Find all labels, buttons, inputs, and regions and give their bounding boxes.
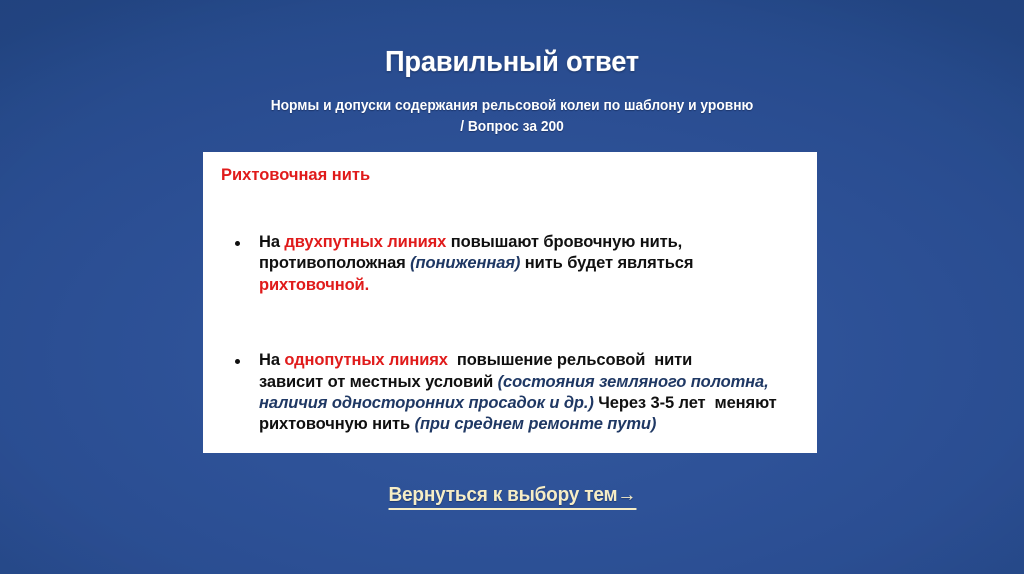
subtitle-line-2: / Вопрос за 200 [208,117,816,138]
text-run-red: рихтовочной. [259,276,369,294]
list-item: На однопутных линиях повышение рельсовой… [217,350,803,436]
text-run-plain: противоположная [259,254,410,272]
text-run-plain: повышают бровочную нить, [446,233,682,251]
text-line: На однопутных линиях повышение рельсовой… [259,350,803,371]
text-run-plain: нить будет являться [520,254,693,272]
text-run-italic: (состояния земляного полотна, [498,373,769,391]
slide-canvas: Правильный ответ Нормы и допуски содержа… [0,0,1024,574]
text-line: противоположная (пониженная) нить будет … [259,253,803,274]
bullet-list: На двухпутных линиях повышают бровочную … [217,232,803,436]
text-run-plain: На [259,351,284,369]
page-title: Правильный ответ [31,48,994,77]
back-to-topics-link[interactable]: Вернуться к выбору тем→ [388,483,636,510]
slide-header: Правильный ответ Нормы и допуски содержа… [0,48,1024,138]
text-line: рихтовочную нить (при среднем ремонте пу… [259,414,803,435]
text-line: зависит от местных условий (состояния зе… [259,372,803,393]
card-heading: Рихтовочная нить [217,162,803,186]
footer-nav: Вернуться к выбору тем→ [0,483,1024,510]
answer-content-card: Рихтовочная нить На двухпутных линиях по… [203,152,817,453]
text-line: наличия односторонних просадок и др.) Че… [259,393,803,414]
text-run-red: двухпутных линиях [284,233,446,251]
text-run-italic: наличия односторонних просадок и др.) [259,394,594,412]
text-run-italic: (при среднем ремонте пути) [415,415,657,433]
text-run-plain: повышение рельсовой нити [448,351,692,369]
text-run-plain: Через 3-5 лет меняют [594,394,777,412]
text-run-plain: рихтовочную нить [259,415,415,433]
text-line: На двухпутных линиях повышают бровочную … [259,232,803,253]
text-run-red: однопутных линиях [284,351,447,369]
text-line: рихтовочной. [259,275,803,296]
subtitle-line-1: Нормы и допуски содержания рельсовой кол… [208,96,816,117]
text-run-italic: (пониженная) [410,254,520,272]
text-run-plain: На [259,233,284,251]
list-item: На двухпутных линиях повышают бровочную … [217,232,803,296]
text-run-plain: зависит от местных условий [259,373,498,391]
slide-subtitle: Нормы и допуски содержания рельсовой кол… [208,96,816,138]
